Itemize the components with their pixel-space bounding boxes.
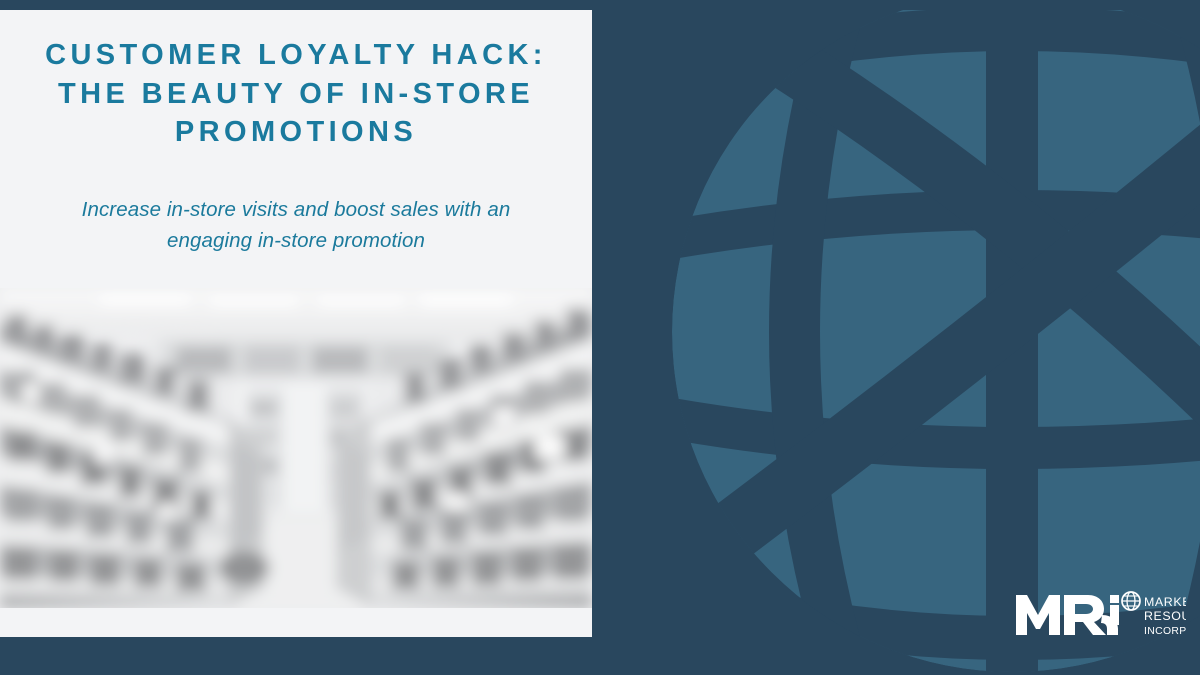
- mri-logo-svg: MARKETING RESOURCES INCORPORATED: [1014, 589, 1186, 639]
- subheadline-block: Increase in-store visits and boost sales…: [0, 195, 592, 257]
- mri-monogram: [1016, 595, 1119, 635]
- store-aisle-photo: [0, 288, 592, 608]
- headline-block: CUSTOMER LOYALTY HACK: THE BEAUTY OF IN-…: [0, 36, 592, 152]
- logo-line-3: INCORPORATED: [1144, 626, 1186, 637]
- mri-logo: MARKETING RESOURCES INCORPORATED: [1014, 589, 1186, 639]
- page-subtitle: Increase in-store visits and boost sales…: [60, 195, 532, 257]
- globe-icon: [1122, 592, 1140, 610]
- logo-line-1: MARKETING: [1144, 595, 1186, 609]
- content-card: CUSTOMER LOYALTY HACK: THE BEAUTY OF IN-…: [0, 10, 592, 637]
- top-accent-strip: [0, 0, 1200, 10]
- store-aisle-illustration: [0, 288, 592, 608]
- logo-line-2: RESOURCES: [1144, 609, 1186, 623]
- page-title: CUSTOMER LOYALTY HACK: THE BEAUTY OF IN-…: [8, 36, 584, 152]
- slide-canvas: CUSTOMER LOYALTY HACK: THE BEAUTY OF IN-…: [0, 0, 1200, 675]
